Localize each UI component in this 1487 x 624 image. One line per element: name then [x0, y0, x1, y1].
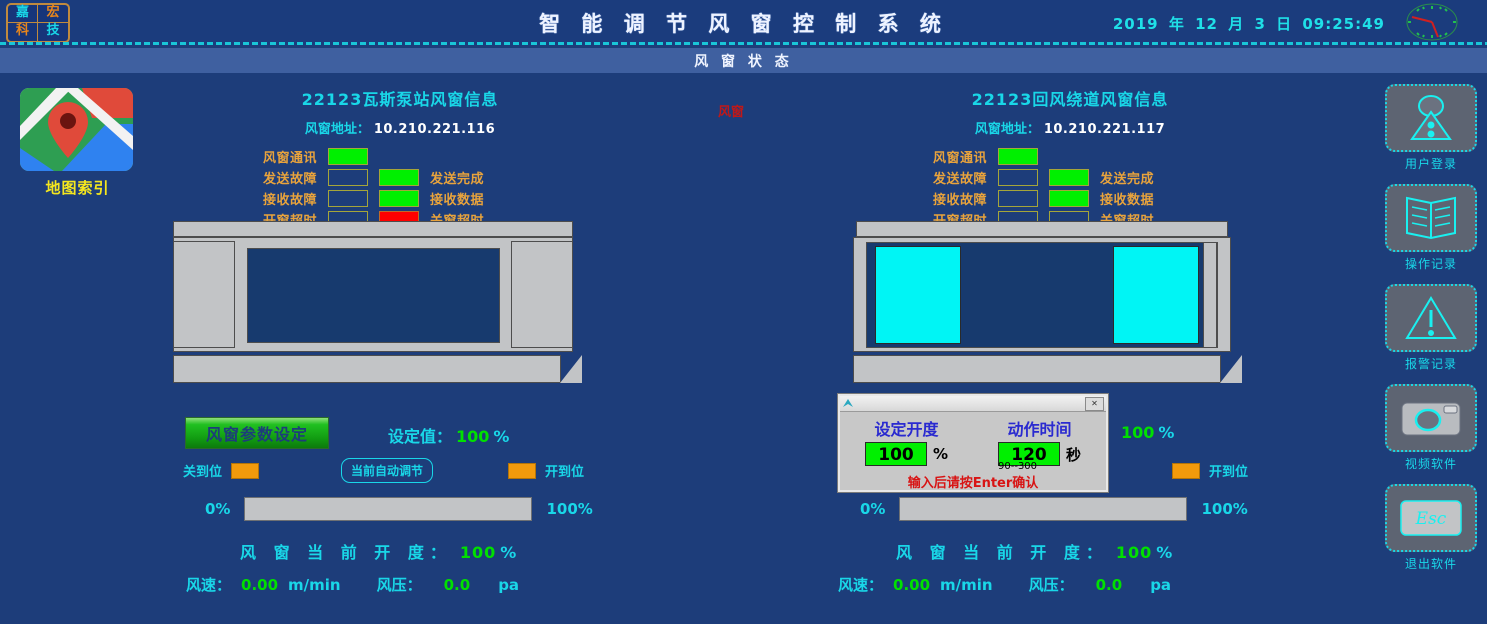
progress-max-label: 100% [546, 500, 592, 518]
led-indicator-group: 风窗通讯 发送故障 发送完成 接收故障 接收数据 开窗超时 关窗超时 [245, 146, 555, 230]
opening-progress-left[interactable]: 0% 100% [205, 497, 593, 521]
close-icon[interactable]: ✕ [1085, 397, 1104, 411]
date-day-unit: 日 [1276, 15, 1292, 33]
exit-software-button[interactable]: Esc [1385, 484, 1477, 552]
panel-title: 22123瓦斯泵站风窗信息 [245, 86, 555, 110]
current-opening-value: 100 [1116, 543, 1152, 562]
wind-pressure-unit: pa [1150, 576, 1171, 594]
panel-address-value: 10.210.221.117 [1044, 122, 1165, 137]
wind-pressure-label: 风压： [377, 574, 422, 595]
window-open-area [247, 248, 500, 343]
wind-readout-left: 风速： 0.00 m/min 风压： 0.0 pa [186, 574, 555, 595]
setpoint-label: 设定值： [388, 427, 452, 446]
date-month: 12 [1195, 15, 1218, 33]
window-right-pillar [511, 241, 573, 348]
setpoint-display-right: 100% [1117, 423, 1174, 442]
map-index-button[interactable]: 地图索引 [20, 88, 135, 198]
panel-address-value: 10.210.221.116 [374, 122, 495, 137]
progress-max-label: 100% [1201, 500, 1247, 518]
led-row: 接收故障 接收数据 [915, 188, 1225, 209]
closed-position-lamp [231, 463, 259, 479]
open-position-label: 开到位 [545, 461, 584, 480]
book-icon [1403, 195, 1459, 241]
sidebar-item-alarm-log[interactable]: 报警记录 [1383, 284, 1479, 372]
sidebar-label: 视频软件 [1383, 455, 1479, 472]
led-row: 接收故障 接收数据 [245, 188, 555, 209]
led-label: 发送故障 [915, 168, 987, 187]
current-opening-unit: % [500, 543, 522, 562]
window-shutter-right [1113, 246, 1199, 344]
dialog-fields: 100 % 120 秒 [840, 442, 1106, 466]
progress-min-label: 0% [205, 500, 230, 518]
led-label-right: 发送完成 [430, 168, 484, 187]
analog-clock-icon [1402, 2, 1462, 42]
dialog-hint: 输入后请按Enter确认 [840, 472, 1106, 491]
setpoint-value: 100 [1121, 423, 1154, 442]
sidebar-label: 用户登录 [1383, 155, 1479, 172]
dialog-titlebar[interactable]: ✕ [840, 396, 1106, 412]
dialog-app-icon [842, 398, 854, 409]
set-opening-unit: % [933, 445, 948, 463]
led-label: 接收故障 [915, 189, 987, 208]
progress-min-label: 0% [860, 500, 885, 518]
svg-text:Esc: Esc [1415, 509, 1447, 529]
led-indicator-send-done [1049, 169, 1089, 186]
window-top-beam [173, 221, 573, 237]
open-position-lamp [1172, 463, 1200, 479]
window-base-wedge [1220, 355, 1242, 383]
window-left-pillar [173, 241, 235, 348]
led-indicator-recv-fault [328, 190, 368, 207]
user-login-button[interactable] [1385, 84, 1477, 152]
led-label: 接收故障 [245, 189, 317, 208]
wind-speed-unit: m/min [940, 576, 993, 594]
led-row: 风窗通讯 [245, 146, 555, 167]
window-base [853, 355, 1221, 383]
wind-readout-right: 风速： 0.00 m/min 风压： 0.0 pa [838, 574, 1207, 595]
led-label-right: 接收数据 [430, 189, 484, 208]
opening-progress-right[interactable]: 0% 100% [860, 497, 1248, 521]
wind-speed-value: 0.00 [241, 576, 278, 594]
led-indicator-recv-data [1049, 190, 1089, 207]
video-software-button[interactable] [1385, 384, 1477, 452]
date-day: 3 [1254, 15, 1265, 33]
datetime-display: 2019 年 12 月 3 日 09:25:49 [1111, 13, 1387, 34]
led-label-right: 接收数据 [1100, 189, 1154, 208]
sidebar-label: 报警记录 [1383, 355, 1479, 372]
led-indicator-send-fault [328, 169, 368, 186]
wind-pressure-unit: pa [498, 576, 519, 594]
window-shutter-left [875, 246, 961, 344]
status-band-label: 风 窗 状 态 [694, 51, 793, 71]
led-label: 风窗通讯 [245, 147, 317, 166]
alarm-log-button[interactable] [1385, 284, 1477, 352]
app-header: 嘉 宏 科 技 智 能 调 节 风 窗 控 制 系 统 2019 年 12 月 … [0, 0, 1487, 44]
led-label: 风窗通讯 [915, 147, 987, 166]
center-window-label: 风窗 [718, 101, 744, 120]
sidebar-item-user-login[interactable]: 用户登录 [1383, 84, 1479, 172]
led-indicator-comm [328, 148, 368, 165]
led-row: 风窗通讯 [915, 146, 1225, 167]
camera-icon [1400, 397, 1462, 439]
led-indicator-send-done [379, 169, 419, 186]
header-divider [0, 42, 1487, 45]
led-indicator-recv-data [379, 190, 419, 207]
parameter-dialog[interactable]: ✕ 设定开度 动作时间 100 % 120 秒 90--300 输入后请按Ent… [838, 394, 1108, 492]
clock-time: 09:25:49 [1302, 15, 1385, 33]
led-row: 发送故障 发送完成 [915, 167, 1225, 188]
window-base-wedge [560, 355, 582, 383]
auto-mode-badge-left[interactable]: 当前自动调节 [341, 458, 433, 483]
operation-log-button[interactable] [1385, 184, 1477, 252]
sidebar-label: 操作记录 [1383, 255, 1479, 272]
open-position-label: 开到位 [1209, 461, 1248, 480]
wind-pressure-value: 0.0 [1096, 576, 1123, 594]
station-panel-right: 22123回风绕道风窗信息 风窗地址：10.210.221.117 风窗通讯 发… [915, 86, 1225, 230]
wind-speed-label: 风速： [186, 574, 231, 595]
sidebar-item-video-software[interactable]: 视频软件 [1383, 384, 1479, 472]
sidebar: 用户登录 操作记录 报警记录 [1383, 84, 1479, 584]
map-index-label: 地图索引 [20, 177, 135, 198]
progress-track[interactable] [899, 497, 1187, 521]
closed-position-indicator-left: 关到位 [183, 461, 259, 480]
panel-address: 风窗地址：10.210.221.117 [915, 118, 1225, 137]
led-indicator-recv-fault [998, 190, 1038, 207]
esc-key-icon: Esc [1399, 498, 1463, 538]
wind-pressure-value: 0.0 [444, 576, 471, 594]
window-top-beam [856, 221, 1228, 237]
sidebar-item-operation-log[interactable]: 操作记录 [1383, 184, 1479, 272]
action-time-label: 动作时间 [1007, 416, 1071, 440]
current-opening-right: 风 窗 当 前 开 度：100% [896, 539, 1178, 563]
setpoint-display-left: 设定值：100% [388, 423, 509, 447]
setpoint-value: 100 [456, 427, 489, 446]
progress-track[interactable] [244, 497, 532, 521]
dialog-field-labels: 设定开度 动作时间 [840, 416, 1106, 440]
wind-speed-unit: m/min [288, 576, 341, 594]
date-year: 2019 [1113, 15, 1159, 33]
wind-speed-value: 0.00 [893, 576, 930, 594]
led-indicator-send-fault [998, 169, 1038, 186]
map-pin-icon[interactable] [20, 88, 133, 171]
open-position-indicator-left: 开到位 [508, 461, 584, 480]
wind-speed-label: 风速： [838, 574, 883, 595]
current-opening-label: 风 窗 当 前 开 度： [896, 543, 1108, 562]
window-param-set-button[interactable]: 风窗参数设定 [185, 417, 329, 449]
station-panel-left: 22123瓦斯泵站风窗信息 风窗地址：10.210.221.116 风窗通讯 发… [245, 86, 555, 230]
current-opening-left: 风 窗 当 前 开 度：100% [240, 539, 522, 563]
setpoint-unit: % [1158, 423, 1174, 442]
current-opening-value: 100 [460, 543, 496, 562]
panel-address-label: 风窗地址： [975, 122, 1040, 137]
led-label-right: 发送完成 [1100, 168, 1154, 187]
date-year-unit: 年 [1169, 15, 1185, 33]
action-time-unit: 秒 [1066, 444, 1081, 465]
panel-title: 22123回风绕道风窗信息 [915, 86, 1225, 110]
window-right-pillar [1203, 242, 1217, 348]
sidebar-item-exit-software[interactable]: Esc 退出软件 [1383, 484, 1479, 572]
set-opening-group: 100 % [865, 442, 948, 466]
closed-position-label: 关到位 [183, 461, 222, 480]
led-label: 发送故障 [245, 168, 317, 187]
warning-triangle-icon [1404, 295, 1458, 341]
window-diagram-left [173, 221, 583, 386]
date-month-unit: 月 [1228, 15, 1244, 33]
sidebar-label: 退出软件 [1383, 555, 1479, 572]
set-opening-label: 设定开度 [874, 416, 938, 440]
current-opening-unit: % [1156, 543, 1178, 562]
current-opening-label: 风 窗 当 前 开 度： [240, 543, 452, 562]
setpoint-unit: % [493, 427, 509, 446]
led-indicator-comm [998, 148, 1038, 165]
led-row: 发送故障 发送完成 [245, 167, 555, 188]
open-position-lamp [508, 463, 536, 479]
window-diagram-right [853, 221, 1248, 386]
panel-address-label: 风窗地址： [305, 122, 370, 137]
window-base [173, 355, 561, 383]
set-opening-input[interactable]: 100 [865, 442, 927, 466]
user-icon [1405, 94, 1457, 142]
status-band: 风 窗 状 态 [0, 48, 1487, 73]
open-position-indicator-right: 开到位 [1172, 461, 1248, 480]
panel-address: 风窗地址：10.210.221.116 [245, 118, 555, 137]
wind-pressure-label: 风压： [1029, 574, 1074, 595]
led-indicator-group: 风窗通讯 发送故障 发送完成 接收故障 接收数据 开窗超时 关窗超时 [915, 146, 1225, 230]
action-time-range: 90--300 [998, 461, 1037, 472]
